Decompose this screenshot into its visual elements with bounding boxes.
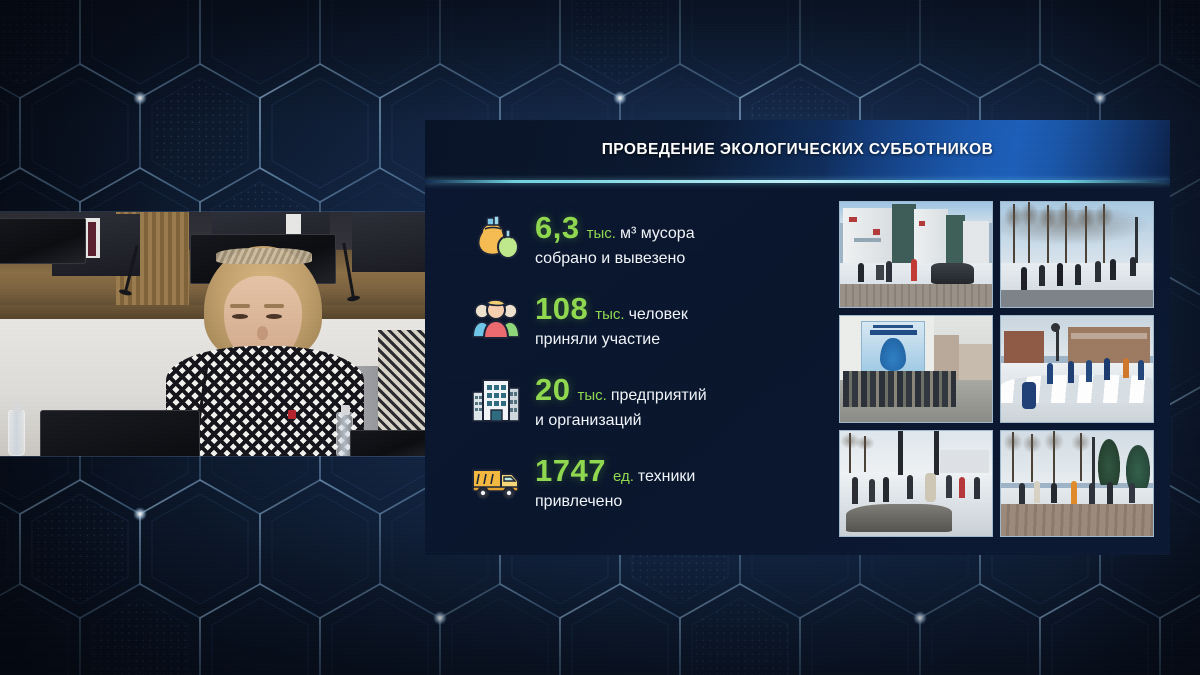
photo1-person-1 (858, 263, 864, 282)
photo1-person-2 (886, 261, 892, 282)
people-group-icon (471, 294, 521, 344)
photo2-person-7 (1130, 257, 1136, 276)
photo2-canopy (1001, 210, 1153, 246)
photo2-person-5 (1095, 261, 1101, 282)
photo3-banner (861, 321, 925, 378)
photo3-water-drop (880, 338, 906, 371)
stat-row-organizations: 20тыс.предприятий и организаций (471, 373, 835, 430)
photo5-tree-1 (849, 433, 851, 473)
photo3-crowd (843, 371, 955, 407)
photo6-person-2 (1034, 481, 1040, 503)
photo5-person-6 (974, 477, 980, 499)
statistics-list: 6,3тыс.м³ мусора собрано и вывезено (425, 183, 835, 555)
photo5-tree-2 (864, 436, 866, 472)
stat-line2-organizations: и организаций (535, 412, 707, 430)
stat-line2-participants: приняли участие (535, 331, 688, 349)
speaker-brow-left (230, 304, 250, 308)
photo-park-cleanup[interactable] (1000, 430, 1154, 537)
attendee-tie-left (88, 222, 96, 256)
speaker-glasses (216, 248, 312, 264)
stat-value-organizations: 20 (535, 372, 570, 407)
photo1-windows-row (854, 238, 881, 242)
photo5-person-1 (852, 477, 858, 504)
photo4-lamp-head (1051, 323, 1060, 332)
stat-word-participants: человек (629, 306, 688, 323)
photo1-person-red (911, 259, 917, 281)
stat-value-participants: 108 (535, 291, 588, 326)
photo4-building-windows (1071, 333, 1147, 339)
stat-word-waste: м³ мусора (620, 225, 695, 242)
stat-text-waste: 6,3тыс.м³ мусора собрано и вывезено (535, 211, 695, 268)
photo-snow-shoveling[interactable] (839, 430, 993, 537)
stat-word-equipment: техники (638, 468, 695, 485)
photo5-person-light-jacket (925, 473, 936, 502)
photo1-accent-2 (873, 229, 879, 234)
dump-truck-icon (471, 456, 521, 506)
photo4-worker-orange-vest (1123, 358, 1129, 378)
stat-row-waste: 6,3тыс.м³ мусора собрано и вывезено (471, 211, 835, 268)
stat-row-equipment: 1747ед.техники привлечено (471, 454, 835, 511)
photo6-tree-4 (1080, 433, 1082, 481)
video-feed-frame (0, 212, 430, 456)
photo6-tree-3 (1053, 431, 1055, 484)
stat-value-waste: 6,3 (535, 210, 580, 245)
stat-line2-equipment: привлечено (535, 493, 695, 511)
photo4-worker-2 (1047, 363, 1053, 384)
photo2-person-1 (1021, 267, 1027, 290)
photo4-worker-3 (1068, 361, 1074, 383)
photo5-person-5 (946, 475, 952, 498)
photo5-person-2 (869, 479, 875, 502)
photo2-person-4 (1075, 264, 1081, 285)
stat-line1-participants: 108тыс.человек (535, 293, 688, 324)
speaker-lapel-pin (288, 410, 296, 419)
photo2-path (1001, 290, 1153, 307)
photo6-paving (1001, 504, 1153, 536)
photo-workers-clearing-snow[interactable] (1000, 315, 1154, 422)
desk-monitor-3 (350, 430, 430, 456)
photo5-building (940, 450, 989, 473)
stat-line1-organizations: 20тыс.предприятий (535, 374, 707, 405)
slide-body: 6,3тыс.м³ мусора собрано и вывезено (425, 183, 1170, 555)
water-bottle-left (8, 410, 25, 456)
speaker-monitor (40, 410, 200, 456)
photo4-worker-foreground (1022, 382, 1036, 409)
speaker-brow-right (264, 304, 284, 308)
stat-text-equipment: 1747ед.техники привлечено (535, 454, 695, 511)
photo-group-at-banner[interactable] (839, 315, 993, 422)
photo6-person-6 (1129, 483, 1135, 503)
photo3-banner-text-1 (873, 325, 913, 328)
stat-line1-equipment: 1747ед.техники (535, 455, 695, 486)
photo4-worker-4 (1086, 360, 1092, 382)
presentation-slide: ПРОВЕДЕНИЕ ЭКОЛОГИЧЕСКИХ СУББОТНИКОВ (425, 120, 1170, 555)
photo5-dirty-snow-heap (846, 504, 952, 531)
photo4-worker-5 (1104, 358, 1110, 379)
stat-line2-waste: собрано и вывезено (535, 250, 695, 268)
live-video-feed[interactable] (0, 212, 430, 456)
photo6-tree-1 (1012, 432, 1014, 483)
photo1-trash-bin (876, 265, 884, 280)
stat-word-organizations: предприятий (611, 387, 707, 404)
speaker-eye-left (232, 314, 248, 319)
desk-monitor-1 (0, 218, 86, 264)
photo6-person-4 (1089, 483, 1095, 504)
speaker-nose (257, 326, 268, 340)
stat-text-participants: 108тыс.человек приняли участие (535, 292, 688, 349)
photo6-person-3 (1051, 483, 1057, 503)
photo5-person-4 (907, 475, 913, 499)
photo1-parked-car (931, 263, 974, 284)
photo1-building-mid (914, 209, 947, 269)
stat-unit-participants: тыс. (595, 306, 624, 323)
photo6-person-orange (1071, 481, 1077, 504)
photo5-person-red (959, 477, 965, 498)
photo6-conifer-1 (1098, 439, 1119, 485)
stat-row-participants: 108тыс.человек приняли участие (471, 292, 835, 349)
photo6-person-1 (1019, 483, 1025, 504)
photo4-worker-6 (1138, 360, 1144, 380)
stat-unit-waste: тыс. (587, 225, 616, 242)
stat-line1-waste: 6,3тыс.м³ мусора (535, 212, 695, 243)
photo3-banner-text-2 (870, 330, 917, 334)
photo6-person-5 (1107, 482, 1113, 504)
photo-tree-alley-cleanup[interactable] (1000, 201, 1154, 308)
photo4-building-brick (1004, 331, 1044, 365)
slide-title: ПРОВЕДЕНИЕ ЭКОЛОГИЧЕСКИХ СУББОТНИКОВ (425, 120, 1170, 180)
photo2-person-2 (1039, 265, 1045, 286)
stat-unit-organizations: тыс. (577, 387, 606, 404)
photo6-conifer-2 (1126, 445, 1150, 487)
photo5-person-3 (883, 477, 889, 502)
office-building-icon (471, 375, 521, 425)
photo1-accent-3 (919, 221, 925, 226)
photo1-accent-1 (849, 217, 857, 222)
photo6-tree-2 (1031, 434, 1033, 482)
stat-unit-equipment: ед. (613, 468, 634, 485)
trash-bags-icon (471, 213, 521, 263)
photo-grid (835, 183, 1170, 555)
photo1-paving (840, 284, 992, 307)
photo2-person-6 (1110, 259, 1116, 280)
photo1-building-right (946, 215, 964, 270)
stat-value-equipment: 1747 (535, 453, 606, 488)
stat-text-organizations: 20тыс.предприятий и организаций (535, 373, 707, 430)
photo-residential-cleanup[interactable] (839, 201, 993, 308)
photo3-building-bg-2 (959, 344, 992, 382)
photo2-person-3 (1057, 263, 1063, 286)
speaker-eye-right (266, 314, 282, 319)
